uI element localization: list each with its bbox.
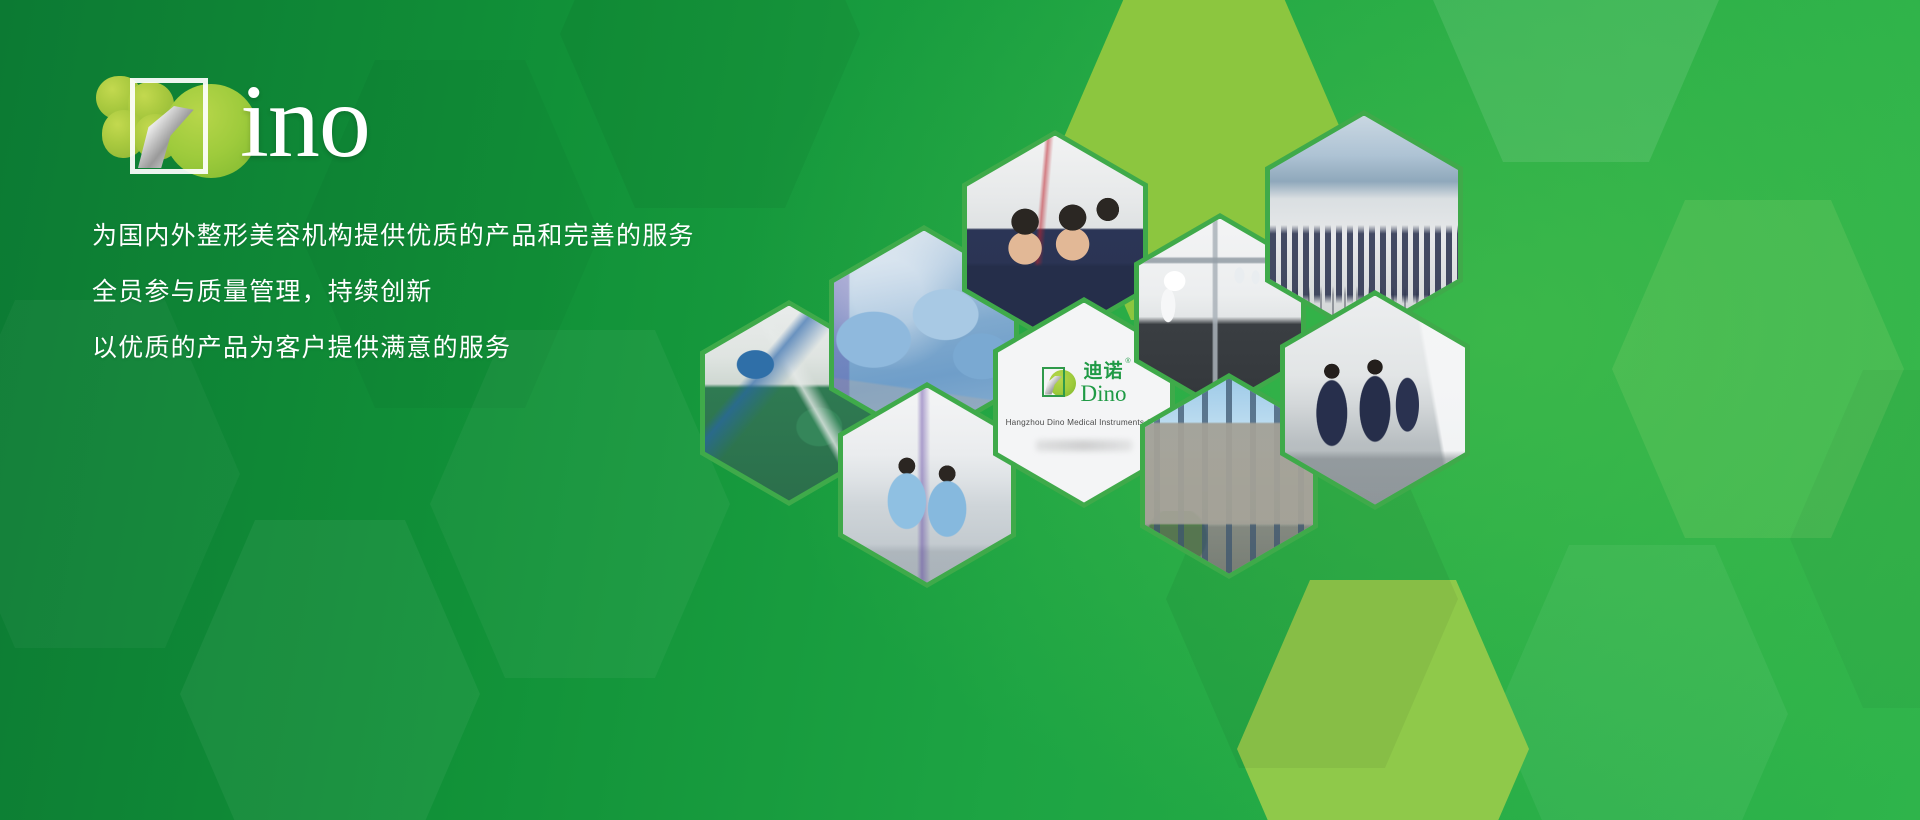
center-logo-caption: Hangzhou Dino Medical Instruments Co.. — [1006, 418, 1163, 427]
center-logo-mark-row: 迪诺 ® Dino — [1042, 362, 1127, 405]
center-logo-blurred-line — [1036, 440, 1132, 451]
center-logo-brand-cn: 迪诺 ® — [1083, 362, 1123, 381]
registered-mark-icon: ® — [1125, 358, 1131, 365]
center-logo-brand-en: Dino — [1081, 382, 1127, 405]
brand-cn-text: 迪诺 — [1083, 361, 1123, 382]
hero-banner: ino 为国内外整形美容机构提供优质的产品和完善的服务 全员参与质量管理，持续创… — [0, 0, 1920, 820]
hexagon-photo-cluster: 迪诺 ® Dino Hangzhou Dino Medical Instrume… — [0, 0, 1920, 820]
dino-mark-icon — [1042, 367, 1076, 401]
